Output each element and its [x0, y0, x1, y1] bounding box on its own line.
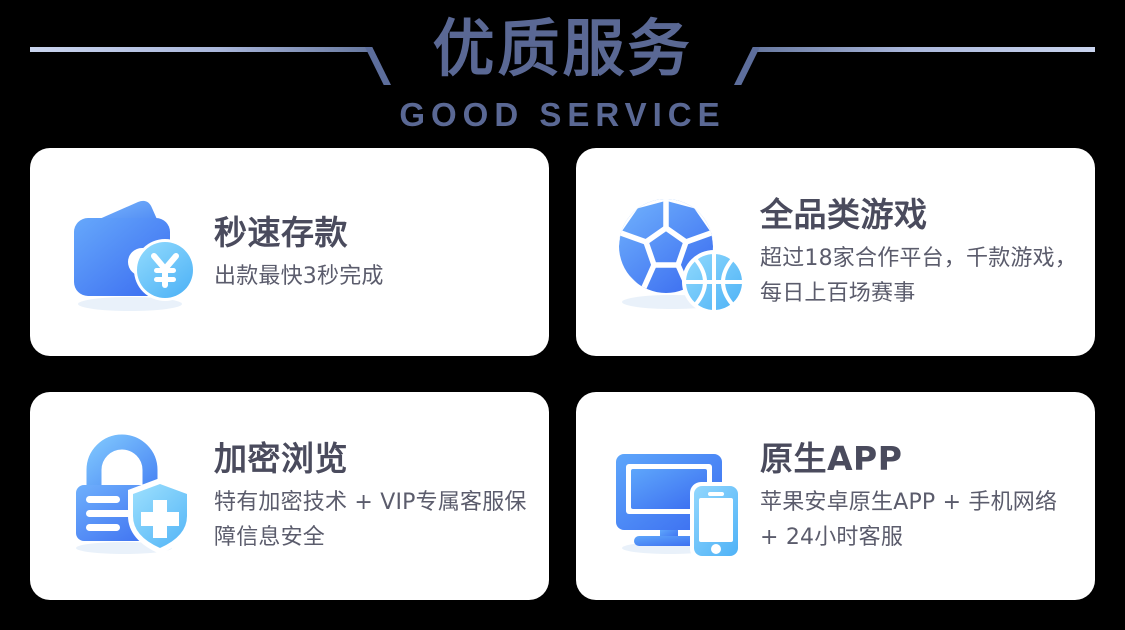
monitor-phone-icon — [610, 430, 752, 562]
card-title: 原生APP — [760, 437, 1081, 481]
card-subtitle: 特有加密技术 + VIP专属客服保障信息安全 — [214, 485, 535, 555]
lock-shield-icon — [64, 430, 206, 562]
card-text-block: 加密浏览 特有加密技术 + VIP专属客服保障信息安全 — [206, 437, 549, 555]
card-title: 全品类游戏 — [760, 193, 1081, 237]
card-subtitle: 苹果安卓原生APP + 手机网络 + 24小时客服 — [760, 485, 1081, 555]
page-title: 优质服务 — [0, 6, 1125, 92]
card-subtitle: 出款最快3秒完成 — [214, 259, 535, 294]
page-header: 优质服务 GOOD SERVICE — [0, 0, 1125, 148]
page-root: 优质服务 GOOD SERVICE — [0, 0, 1125, 630]
card-text-block: 原生APP 苹果安卓原生APP + 手机网络 + 24小时客服 — [752, 437, 1095, 555]
card-text-block: 秒速存款 出款最快3秒完成 — [206, 211, 549, 294]
page-subtitle: GOOD SERVICE — [0, 96, 1125, 134]
feature-card[interactable]: 秒速存款 出款最快3秒完成 — [30, 148, 549, 356]
wallet-yen-icon — [64, 186, 206, 318]
feature-card[interactable]: 原生APP 苹果安卓原生APP + 手机网络 + 24小时客服 — [576, 392, 1095, 600]
soccer-basketball-icon — [610, 186, 752, 318]
feature-card[interactable]: 加密浏览 特有加密技术 + VIP专属客服保障信息安全 — [30, 392, 549, 600]
feature-card[interactable]: 全品类游戏 超过18家合作平台，千款游戏，每日上百场赛事 — [576, 148, 1095, 356]
card-subtitle: 超过18家合作平台，千款游戏，每日上百场赛事 — [760, 241, 1081, 311]
feature-card-grid: 秒速存款 出款最快3秒完成 — [30, 148, 1095, 600]
card-title: 秒速存款 — [214, 211, 535, 255]
card-title: 加密浏览 — [214, 437, 535, 481]
card-text-block: 全品类游戏 超过18家合作平台，千款游戏，每日上百场赛事 — [752, 193, 1095, 311]
